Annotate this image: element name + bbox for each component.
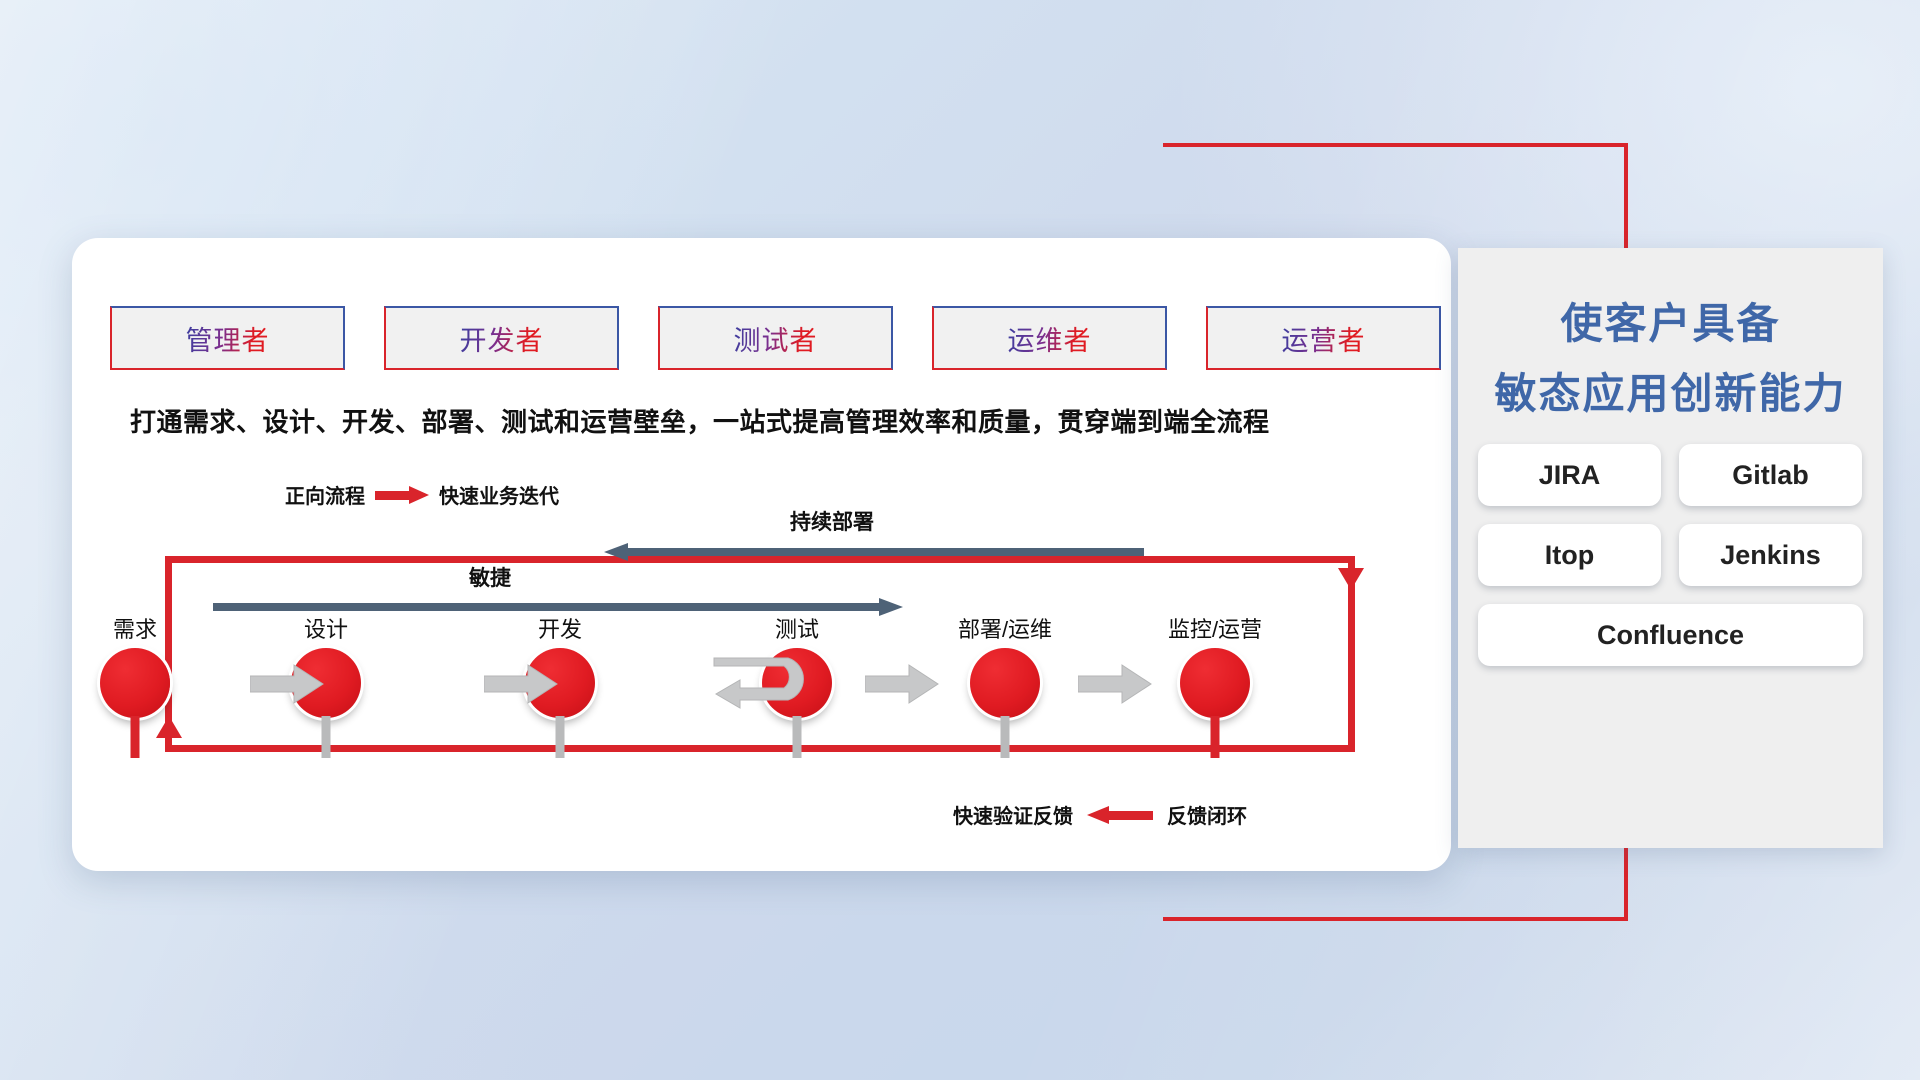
iteration-loop-icon [710, 652, 818, 714]
feedback-to-label: 快速验证反馈 [953, 800, 1073, 829]
role-label: 运营者 [1282, 319, 1366, 358]
forward-flow-from-label: 正向流程 [285, 480, 365, 509]
stage-label: 开发 [495, 612, 625, 644]
role-label: 管理者 [186, 319, 270, 358]
role-label: 运维者 [1008, 319, 1092, 358]
forward-flow-to-label: 快速业务迭代 [439, 480, 559, 509]
arrow-left-red-icon [1087, 806, 1153, 824]
subtitle-text: 打通需求、设计、开发、部署、测试和运营壁垒，一站式提高管理效率和质量，贯穿端到端… [130, 402, 1420, 439]
stage-label: 监控/运营 [1150, 612, 1280, 644]
stage-label: 部署/运维 [940, 612, 1070, 644]
stage-requirement[interactable]: 需求 [70, 612, 200, 718]
role-box-operations[interactable]: 运营者 [1206, 306, 1441, 370]
value-panel: 使客户具备 敏态应用创新能力 JIRA Gitlab Itop Jenkins … [1458, 248, 1883, 848]
chevron-arrow-icon [865, 664, 939, 704]
role-boxes-row: 管理者 开发者 测试者 运维者 运营者 [110, 306, 1441, 370]
feedback-legend: 快速验证反馈 反馈闭环 [953, 800, 1247, 829]
arrow-left-dark-icon [604, 543, 1144, 561]
stage-deploy-ops[interactable]: 部署/运维 [940, 612, 1070, 718]
stage-label: 需求 [70, 612, 200, 644]
chevron-arrow-icon [250, 664, 324, 704]
tool-tag-confluence[interactable]: Confluence [1478, 604, 1863, 666]
role-box-developer[interactable]: 开发者 [384, 306, 619, 370]
stage-monitor-operations[interactable]: 监控/运营 [1150, 612, 1280, 718]
role-box-tester[interactable]: 测试者 [658, 306, 893, 370]
role-box-ops[interactable]: 运维者 [932, 306, 1167, 370]
tool-tag-itop[interactable]: Itop [1478, 524, 1661, 586]
arrow-right-red-icon [375, 486, 429, 504]
tool-tag-list: JIRA Gitlab Itop Jenkins Confluence [1478, 444, 1863, 666]
tool-tag-jira[interactable]: JIRA [1478, 444, 1661, 506]
chevron-arrow-icon [484, 664, 558, 704]
panel-heading-line2: 敏态应用创新能力 [1458, 360, 1883, 421]
stage-label: 测试 [732, 612, 862, 644]
continuous-deploy-label: 持续部署 [790, 506, 874, 536]
loop-arrow-down-icon [1338, 568, 1364, 590]
feedback-from-label: 反馈闭环 [1167, 800, 1247, 829]
panel-heading-line1: 使客户具备 [1458, 290, 1883, 351]
agile-label: 敏捷 [469, 562, 511, 592]
stage-marker [100, 648, 170, 718]
forward-flow-legend: 正向流程 快速业务迭代 [285, 480, 559, 509]
role-box-manager[interactable]: 管理者 [110, 306, 345, 370]
tool-tag-gitlab[interactable]: Gitlab [1679, 444, 1862, 506]
role-label: 开发者 [460, 319, 544, 358]
tool-tag-jenkins[interactable]: Jenkins [1679, 524, 1862, 586]
stage-marker [970, 648, 1040, 718]
stage-marker [1180, 648, 1250, 718]
role-label: 测试者 [734, 319, 818, 358]
stage-label: 设计 [261, 612, 391, 644]
chevron-arrow-icon [1078, 664, 1152, 704]
